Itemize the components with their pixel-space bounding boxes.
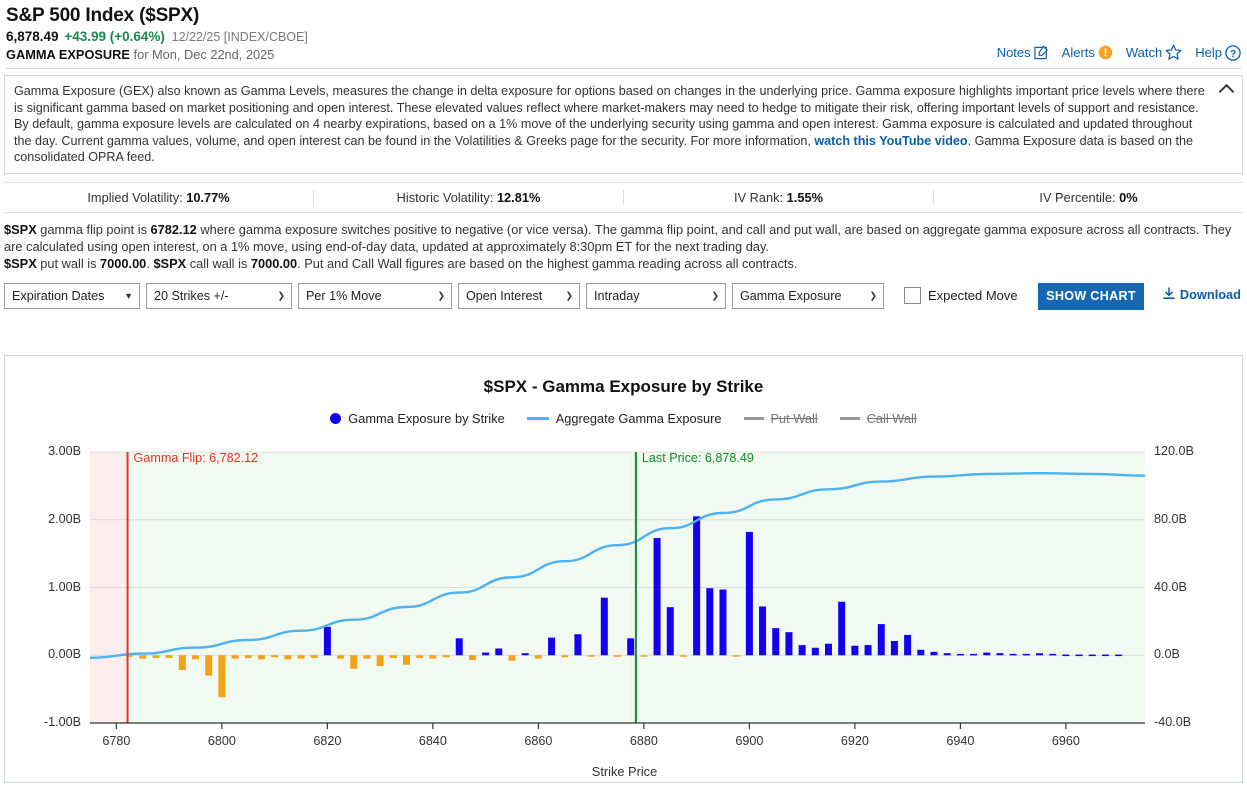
x-axis-tick-label: 6840 bbox=[403, 734, 463, 748]
basis-value: Open Interest bbox=[466, 289, 542, 303]
youtube-video-link[interactable]: watch this YouTube video bbox=[814, 134, 967, 148]
expiration-dates-dropdown[interactable]: Expiration Dates ▼ bbox=[4, 283, 140, 309]
quote-change: +43.99 (+0.64%) bbox=[64, 29, 165, 44]
svg-text:?: ? bbox=[1230, 48, 1236, 59]
download-label: Download bbox=[1180, 287, 1241, 302]
header-links: Notes Alerts Watch Help ? bbox=[997, 44, 1241, 61]
chevron-down-icon: ❯ bbox=[869, 290, 877, 301]
watch-link[interactable]: Watch bbox=[1126, 44, 1182, 61]
period-dropdown[interactable]: Intraday ❯ bbox=[586, 283, 726, 309]
x-axis-tick-label: 6820 bbox=[297, 734, 357, 748]
legend-line-icon bbox=[744, 417, 764, 420]
alerts-label: Alerts bbox=[1062, 45, 1095, 60]
y-axis-tick-label: 2.00B bbox=[19, 512, 81, 526]
x-axis-tick-label: 6940 bbox=[930, 734, 990, 748]
x-axis-tick-label: 6860 bbox=[508, 734, 568, 748]
gamma-flip-note: $SPX gamma flip point is 6782.12 where g… bbox=[4, 221, 1243, 272]
gamma-exposure-page: S&P 500 Index ($SPX) 6,878.49 +43.99 (+0… bbox=[0, 0, 1247, 787]
legend-item-call-wall[interactable]: Call Wall bbox=[840, 411, 917, 426]
put-wall-text: put wall is bbox=[37, 256, 100, 271]
alert-exclamation-icon bbox=[1098, 45, 1113, 60]
y2-axis-tick-label: 80.0B bbox=[1154, 512, 1216, 526]
chevron-down-icon: ❯ bbox=[437, 290, 445, 301]
y2-axis-tick-label: 0.0B bbox=[1154, 647, 1216, 661]
stat-historic-volatility: Historic Volatility: 12.81% bbox=[314, 190, 624, 205]
quote-last-price: 6,878.49 bbox=[6, 29, 59, 44]
wall-note-text: . Put and Call Wall figures are based on… bbox=[297, 256, 797, 271]
y-axis-tick-label: 3.00B bbox=[19, 444, 81, 458]
stat-iv-percentile: IV Percentile: 0% bbox=[934, 190, 1243, 205]
legend-label: Put Wall bbox=[771, 411, 818, 426]
flip-note-line2: $SPX put wall is 7000.00. $SPX call wall… bbox=[4, 255, 1243, 272]
stat-value: 12.81% bbox=[497, 190, 540, 205]
x-axis-title: Strike Price bbox=[5, 764, 1244, 779]
chevron-down-icon: ❯ bbox=[277, 290, 285, 301]
x-axis-tick-label: 6960 bbox=[1036, 734, 1096, 748]
move-dropdown[interactable]: Per 1% Move ❯ bbox=[298, 283, 452, 309]
y-axis-tick-label: 1.00B bbox=[19, 580, 81, 594]
stat-label: Implied Volatility: bbox=[87, 190, 182, 205]
chevron-up-icon[interactable] bbox=[1218, 82, 1235, 99]
chart-toolbar: Expiration Dates ▼ 20 Strikes +/- ❯ Per … bbox=[4, 283, 1243, 309]
alerts-link[interactable]: Alerts bbox=[1062, 45, 1113, 60]
call-wall-value: 7000.00 bbox=[251, 256, 297, 271]
call-wall-text: call wall is bbox=[186, 256, 251, 271]
legend-label: Gamma Exposure by Strike bbox=[348, 411, 504, 426]
legend-label: Aggregate Gamma Exposure bbox=[556, 411, 722, 426]
call-wall-symbol: $SPX bbox=[153, 256, 186, 271]
legend-item-aggregate-gamma-exposure[interactable]: Aggregate Gamma Exposure bbox=[527, 411, 722, 426]
y2-axis-tick-label: -40.0B bbox=[1154, 715, 1216, 729]
chart-panel: $SPX - Gamma Exposure by Strike Gamma Ex… bbox=[4, 355, 1243, 783]
help-link[interactable]: Help ? bbox=[1195, 45, 1241, 61]
move-value: Per 1% Move bbox=[306, 289, 382, 303]
chevron-down-icon: ❯ bbox=[565, 290, 573, 301]
y-axis-tick-label: 0.00B bbox=[19, 647, 81, 661]
expected-move-control: Expected Move bbox=[904, 287, 1018, 304]
metric-dropdown[interactable]: Gamma Exposure ❯ bbox=[732, 283, 884, 309]
y2-axis-tick-label: 40.0B bbox=[1154, 580, 1216, 594]
stat-value: 1.55% bbox=[787, 190, 823, 205]
quote-row: 6,878.49 +43.99 (+0.64%) 12/22/25 [INDEX… bbox=[6, 29, 1241, 44]
legend-line-icon bbox=[840, 417, 860, 420]
note-edit-icon bbox=[1034, 45, 1049, 60]
flip-note-line1: $SPX gamma flip point is 6782.12 where g… bbox=[4, 221, 1243, 255]
stat-label: Historic Volatility: bbox=[397, 190, 494, 205]
x-axis-tick-label: 6920 bbox=[825, 734, 885, 748]
watch-label: Watch bbox=[1126, 45, 1162, 60]
x-axis-tick-label: 6780 bbox=[86, 734, 146, 748]
download-icon bbox=[1162, 287, 1176, 301]
star-icon bbox=[1165, 44, 1182, 61]
stat-label: IV Percentile: bbox=[1039, 190, 1115, 205]
chart-legend: Gamma Exposure by Strike Aggregate Gamma… bbox=[5, 411, 1242, 426]
chevron-down-icon: ❯ bbox=[711, 290, 719, 301]
legend-item-put-wall[interactable]: Put Wall bbox=[744, 411, 818, 426]
legend-label: Call Wall bbox=[867, 411, 917, 426]
stat-implied-volatility: Implied Volatility: 10.77% bbox=[4, 190, 314, 205]
legend-dot-icon bbox=[330, 413, 341, 424]
show-chart-button[interactable]: SHOW CHART bbox=[1038, 283, 1144, 310]
strikes-value: 20 Strikes +/- bbox=[154, 289, 229, 303]
x-axis-tick-label: 6880 bbox=[614, 734, 674, 748]
strikes-dropdown[interactable]: 20 Strikes +/- ❯ bbox=[146, 283, 292, 309]
help-label: Help bbox=[1195, 45, 1222, 60]
flip-text-a: gamma flip point is bbox=[37, 222, 151, 237]
x-axis-tick-label: 6900 bbox=[719, 734, 779, 748]
basis-dropdown[interactable]: Open Interest ❯ bbox=[458, 283, 580, 309]
notes-link[interactable]: Notes bbox=[997, 45, 1049, 60]
question-circle-icon: ? bbox=[1225, 45, 1241, 61]
stat-value: 10.77% bbox=[186, 190, 229, 205]
stat-label: IV Rank: bbox=[734, 190, 783, 205]
put-wall-symbol: $SPX bbox=[4, 256, 37, 271]
put-wall-value: 7000.00 bbox=[100, 256, 146, 271]
flip-symbol: $SPX bbox=[4, 222, 37, 237]
download-button[interactable]: Download bbox=[1162, 287, 1241, 302]
section-date: for Mon, Dec 22nd, 2025 bbox=[134, 47, 275, 62]
header-divider bbox=[6, 68, 1241, 69]
expiration-dates-value: Expiration Dates bbox=[12, 289, 104, 303]
legend-line-icon bbox=[527, 417, 549, 420]
quote-timestamp: 12/22/25 [INDEX/CBOE] bbox=[172, 30, 308, 44]
section-label: GAMMA EXPOSURE bbox=[6, 47, 130, 62]
stat-iv-rank: IV Rank: 1.55% bbox=[624, 190, 934, 205]
notes-label: Notes bbox=[997, 45, 1031, 60]
expected-move-label: Expected Move bbox=[928, 288, 1018, 303]
y-axis-tick-label: -1.00B bbox=[19, 715, 81, 729]
gamma-flip-annotation: Gamma Flip: 6,782.12 bbox=[134, 451, 259, 465]
description-box: Gamma Exposure (GEX) also known as Gamma… bbox=[4, 75, 1243, 174]
stat-value: 0% bbox=[1119, 190, 1138, 205]
page-title: S&P 500 Index ($SPX) bbox=[6, 5, 1241, 27]
metric-value: Gamma Exposure bbox=[740, 289, 842, 303]
x-axis-tick-label: 6800 bbox=[192, 734, 252, 748]
volatility-stats-bar: Implied Volatility: 10.77% Historic Vola… bbox=[4, 182, 1243, 213]
expected-move-checkbox[interactable] bbox=[904, 287, 921, 304]
chevron-down-icon: ▼ bbox=[124, 291, 133, 301]
y2-axis-tick-label: 120.0B bbox=[1154, 444, 1216, 458]
legend-item-gamma-exposure-by-strike[interactable]: Gamma Exposure by Strike bbox=[330, 411, 504, 426]
last-price-annotation: Last Price: 6,878.49 bbox=[642, 451, 754, 465]
period-value: Intraday bbox=[594, 289, 640, 303]
flip-point-value: 6782.12 bbox=[151, 222, 197, 237]
chart-title: $SPX - Gamma Exposure by Strike bbox=[5, 377, 1242, 397]
